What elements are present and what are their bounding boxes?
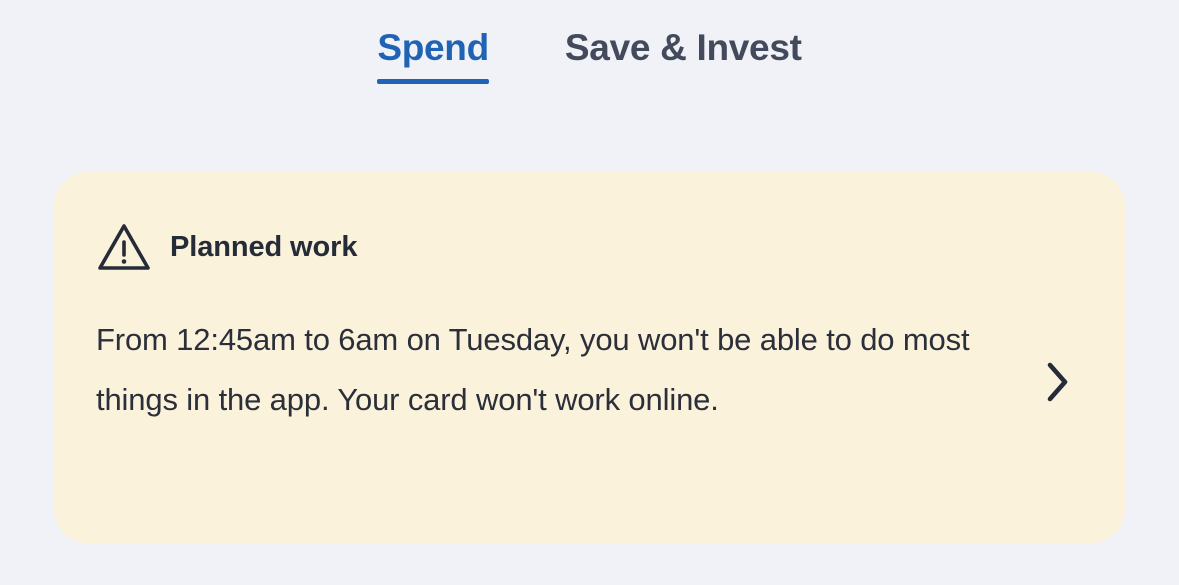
chevron-right-icon [1042,360,1072,404]
notice-title: Planned work [170,230,357,264]
tab-save-and-invest-label: Save & Invest [565,27,802,68]
notice-chevron-button[interactable] [1031,222,1083,404]
notice-header: Planned work [96,222,1017,272]
tab-spend-label: Spend [377,27,489,68]
notice-content: Planned work From 12:45am to 6am on Tues… [96,222,1031,430]
tab-active-underline [377,79,489,84]
notice-body-text: From 12:45am to 6am on Tuesday, you won'… [96,310,996,430]
tab-spend[interactable]: Spend [377,22,489,84]
warning-triangle-icon [96,221,152,273]
app-screen: Spend Save & Invest Planned work From 12… [0,0,1179,585]
tab-save-and-invest[interactable]: Save & Invest [565,22,802,84]
tab-bar: Spend Save & Invest [0,22,1179,84]
planned-work-notice-card[interactable]: Planned work From 12:45am to 6am on Tues… [54,172,1125,543]
